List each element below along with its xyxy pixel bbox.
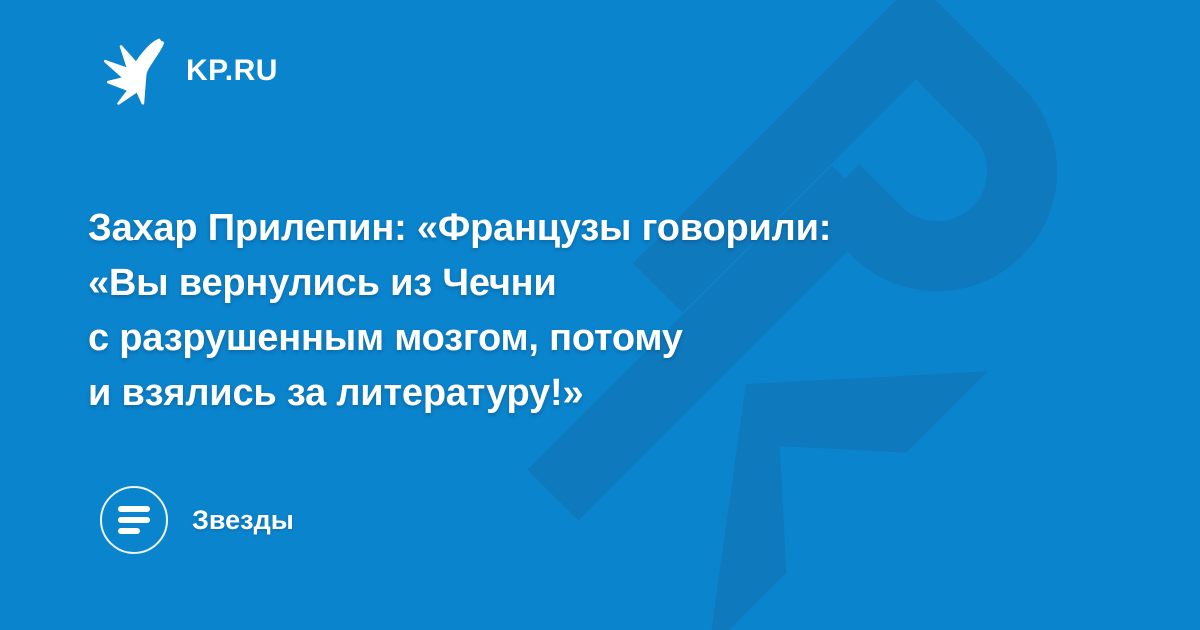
- brand-wordmark: KP.RU: [186, 56, 278, 86]
- menu-bar-3: [118, 528, 140, 534]
- swallow-bird-icon: [104, 36, 166, 106]
- menu-bar-2: [118, 517, 150, 523]
- headline-line: Захар Прилепин: «Французы говорили:: [88, 201, 1098, 256]
- category-label: Звезды: [192, 507, 294, 534]
- headline-line: и взялись за литературу!»: [88, 366, 1098, 421]
- share-card: KP.RU Захар Прилепин: «Французы говорили…: [0, 0, 1200, 630]
- hamburger-menu-icon: [118, 506, 150, 534]
- page-title: Захар Прилепин: «Французы говорили: «Вы …: [88, 201, 1098, 421]
- brand-header[interactable]: KP.RU: [104, 36, 278, 106]
- menu-bar-1: [118, 506, 150, 512]
- headline-line: с разрушенным мозгом, потому: [88, 311, 1098, 366]
- category-badge[interactable]: Звезды: [100, 486, 294, 554]
- category-icon-circle[interactable]: [100, 486, 168, 554]
- headline-line: «Вы вернулись из Чечни: [88, 256, 1098, 311]
